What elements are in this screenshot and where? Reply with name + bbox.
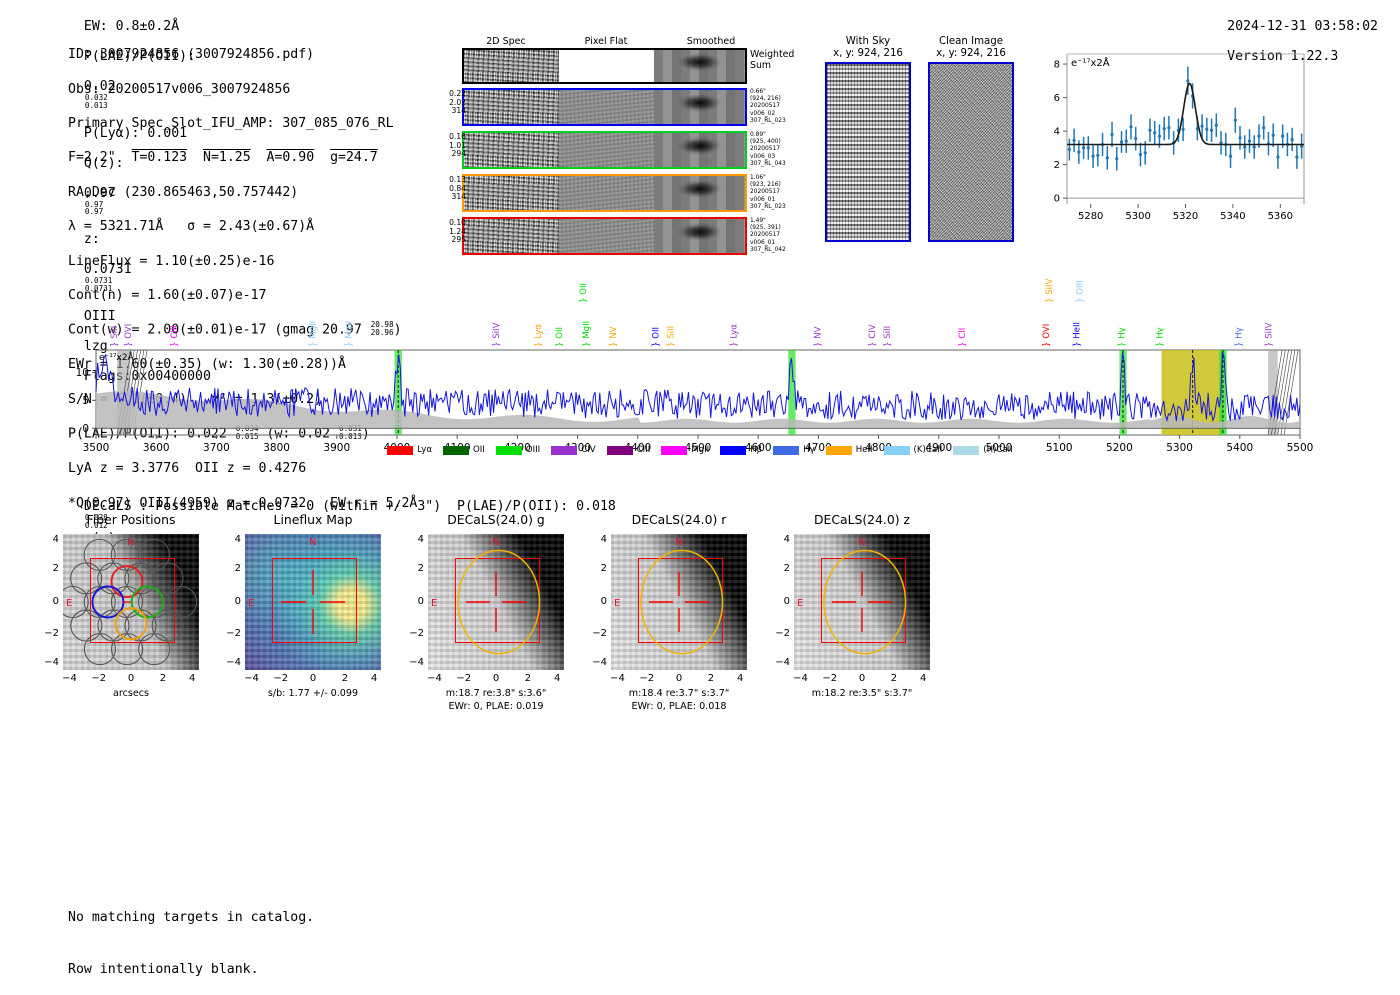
spectrum-line-label: } MgII [309,321,319,347]
info-seeing-a: A=0.90 [267,150,315,165]
cutout-ytick: −2 [43,628,59,639]
svg-text:5: 5 [82,395,89,407]
cutout-title: DECaLS(24.0) r [587,512,771,527]
weighted-sum-smoothed [654,50,745,82]
cutout-ytick: −4 [408,657,424,668]
svg-text:6: 6 [1054,93,1060,104]
legend-item: OIII [496,445,540,455]
info-radec: RA,Dec (230.865463,50.757442) [68,184,417,201]
info-lambda-sigma: λ = 5321.71Å σ = 2.43(±0.67)Å [68,218,417,235]
cutout-xtick: −4 [62,673,76,684]
cutout-xtick: −2 [456,673,470,684]
svg-text:5360: 5360 [1268,211,1293,222]
cutout-title: Lineflux Map [221,512,405,527]
spectrum-line-label: } MgII [345,321,355,347]
spec2d-col-title: Pixel Flat [576,36,636,47]
spectrum-line-label: } OII [555,327,565,347]
svg-text:5320: 5320 [1173,211,1198,222]
legend-label: CIII [637,445,651,455]
spectrum-line-label: } CIII [170,325,180,347]
spec2d-row-pixelflat [559,219,654,253]
cutout-xtick: −4 [244,673,258,684]
spec2d-row-right-labels: 1.06"(923, 216)20200517v006_01307_RL_023 [750,175,804,211]
legend-swatch [443,446,469,455]
spectrum-line-label: } HeII [1072,322,1082,347]
info-seeing-g: g=24.7 [330,150,378,165]
legend-swatch [551,446,577,455]
cutout-title: DECaLS(24.0) g [404,512,588,527]
cutout-xtick: −4 [610,673,624,684]
spec2d-row-left-labels: 0.161.01294 [436,133,466,159]
weighted-sum-strip [462,48,747,84]
line-fit-plot: 0246852805300532053405360e⁻¹⁷x2Å [1035,48,1310,228]
cutout-xtick: 2 [338,673,352,684]
cutout-title: DECaLS(24.0) z [770,512,954,527]
cutout-xtick: 4 [185,673,199,684]
cutout-ytick: 4 [774,534,790,545]
cutout-xtick: −2 [639,673,653,684]
cutout-footer-1: m:18.7 re:3.8" s:3.6" [402,688,590,700]
legend-swatch [720,446,746,455]
spectrum-line-label: } CIV [868,324,878,347]
spectrum-line-label: } OII [651,327,661,347]
cutout-ytick: −2 [225,628,241,639]
spectrum-line-label: } OVI [124,324,134,347]
cutout-xtick: −2 [91,673,105,684]
spec2d-row [462,88,747,126]
info-seeing-n: N=1.25 [203,150,251,165]
info-id: ID: 3007924856 (3007924856.pdf) [68,46,417,63]
cutout-title: Fiber Positions [39,512,223,527]
cutout-ytick: 2 [225,563,241,574]
legend-item: Hγ [773,445,815,455]
spec2d-row-pixelflat [559,133,654,167]
cutout-image: NE [428,534,564,670]
spectrum-line-label: } Hγ [1117,327,1127,347]
cutout-xtick: −2 [822,673,836,684]
spectrum-line-label: } Hγ [1235,327,1245,347]
cutout-ytick: 4 [43,534,59,545]
svg-text:5300: 5300 [1125,211,1150,222]
cutout-xtick: 4 [550,673,564,684]
cutout-ytick: −4 [225,657,241,668]
spectrum-line-label: } MgII [582,321,592,347]
spec2d-row-smoothed [654,219,745,253]
svg-text:5280: 5280 [1078,211,1103,222]
cutout-ytick: 0 [774,596,790,607]
svg-text:0: 0 [1054,194,1060,205]
spectrum-line-label: } NV [814,326,824,347]
svg-text:10: 10 [76,367,89,379]
legend-label: HeII [856,445,873,455]
cutout-xtick: 4 [733,673,747,684]
spec2d-row-right-labels: 0.89"(925, 400)20200517v006_03307_RL_043 [750,132,804,168]
spectrum-line-label: } Hγ [1155,327,1165,347]
cutout-image: NE [794,534,930,670]
spectrum-legend: LyαOIIOIIICIVCIIIMgIIHβHγHeII(K)CaII(H)C… [0,445,1400,455]
legend-label: OIII [526,445,540,455]
cutout-image: NE [245,534,381,670]
cutout-xtick: 2 [521,673,535,684]
thumbnail-texture [827,64,909,240]
bottom-note: No matching targets in catalog. Row inte… [68,875,314,995]
svg-text:e⁻¹⁷x2Å: e⁻¹⁷x2Å [1071,56,1110,69]
cutout-xtick: 0 [672,673,686,684]
thumbnail-image [825,62,911,242]
spectrum-line-label: } OIII [1075,280,1085,303]
cutout-ytick: −4 [591,657,607,668]
spectrum-line-label: } SiII [883,326,893,347]
cutout-ytick: −2 [774,628,790,639]
thumbnail-caption: With Skyx, y: 924, 216 [813,36,923,61]
spec2d-row-right-labels: 0.66"(924, 216)20200517v006_02307_RL_023 [750,89,804,125]
spectrum-line-label: } OVI [1042,324,1052,347]
legend-item: MgII [661,445,709,455]
spec2d-row-left-labels: 0.222.02314 [436,90,466,116]
bottom-note-line2: Row intentionally blank. [68,961,314,978]
cutout-ytick: 2 [408,563,424,574]
spectrum-line-label: } CII [958,328,968,347]
svg-text:8: 8 [1054,60,1060,71]
legend-item: CIII [607,445,651,455]
cutout-ytick: 4 [408,534,424,545]
weighted-sum-pixelflat [559,50,654,82]
cutout-image: NE [63,534,199,670]
thumbnail-texture [930,64,1012,240]
svg-text:4: 4 [1054,127,1060,138]
cutout-xtick: −2 [273,673,287,684]
spec2d-row-smoothed [654,90,745,124]
spec2d-col-title: 2D Spec [476,36,536,47]
weighted-sum-2dspec [464,50,559,82]
spectrum-line-label: } SiII [110,326,120,347]
info-seeing-row: F=2.2" T=0.123 N=1.25 A=0.90 g=24.7 [68,149,417,166]
cutout-ytick: 2 [591,563,607,574]
spectrum-line-label: } OII [579,283,589,303]
info-slot: Primary Spec_Slot_IFU_AMP: 307_085_076_R… [68,115,417,132]
cutout-footer-2: EWr: 0, PLAE: 0.018 [585,701,773,713]
cutout-xtick: 0 [855,673,869,684]
bottom-note-line1: No matching targets in catalog. [68,909,314,926]
legend-item: (K)CaII [884,445,943,455]
legend-label: (H)CaII [983,445,1013,455]
legend-item: CIV [551,445,595,455]
spec2d-row [462,131,747,169]
cutout-ytick: −4 [774,657,790,668]
legend-label: Lyα [417,445,432,455]
legend-item: (H)CaII [953,445,1013,455]
cutout-footer-1: m:18.2 re:3.5" s:3.7" [768,688,956,700]
thumbnail-caption: Clean Imagex, y: 924, 216 [916,36,1026,61]
spec2d-row [462,174,747,212]
legend-label: CIV [581,445,595,455]
cutout-xlabel: arcsecs [39,688,223,700]
svg-text:2: 2 [1054,160,1060,171]
legend-item: Lyα [387,445,432,455]
spec2d-row-2dspec [464,133,559,167]
legend-item: Hβ [720,445,762,455]
info-seeing-f: F=2.2" [68,150,116,165]
legend-item: OII [443,445,485,455]
full-spectrum-panel: 0510350036003700380039004000410042004300… [0,262,1400,477]
spec2d-row-2dspec [464,90,559,124]
cutout-xtick: −4 [793,673,807,684]
legend-label: OII [473,445,485,455]
cutout-image: NE [611,534,747,670]
cutout-ytick: −2 [408,628,424,639]
cutout-ytick: 2 [43,563,59,574]
thumbnail-image [928,62,1014,242]
spec2d-row-pixelflat [559,90,654,124]
cutout-ytick: 0 [591,596,607,607]
legend-label: (K)CaII [914,445,943,455]
spectrum-line-label: } SiIV [492,322,502,347]
legend-label: Hγ [803,445,815,455]
legend-swatch [387,446,413,455]
spec2d-row-smoothed [654,133,745,167]
legend-swatch [826,446,852,455]
spectrum-line-label: } NV [609,326,619,347]
legend-swatch [607,446,633,455]
legend-swatch [661,446,687,455]
legend-label: MgII [691,445,709,455]
spectrum-line-label: } SiIV [1045,278,1055,303]
cutout-xtick: 2 [704,673,718,684]
info-seeing-t: T=0.123 [132,150,188,165]
weighted-sum-label: WeightedSum [750,49,798,71]
cutout-xtick: −4 [427,673,441,684]
cutout-ytick: 2 [774,563,790,574]
legend-item: HeII [826,445,873,455]
spectrum-line-label: } Lyα [730,324,740,347]
cutout-footer-1: s/b: 1.77 +/- 0.099 [219,688,407,700]
svg-text:5340: 5340 [1220,211,1245,222]
cutout-ytick: −2 [591,628,607,639]
spec2d-row-left-labels: 0.130.84314 [436,176,466,202]
info-obs: Obs: 20200517v006_3007924856 [68,81,417,98]
cutout-xtick: 0 [306,673,320,684]
spec2d-row [462,217,747,255]
spec2d-row-right-labels: 1.49"(925, 391)20200517v006_01307_RL_042 [750,218,804,254]
cutout-xtick: 4 [367,673,381,684]
spectrum-line-label: } SiIV [1265,322,1275,347]
legend-label: Hβ [750,445,762,455]
cutout-footer-2: EWr: 0, PLAE: 0.019 [402,701,590,713]
cutout-ytick: 0 [43,596,59,607]
svg-text:e⁻¹⁷x2Å: e⁻¹⁷x2Å [99,351,135,363]
spec2d-row-smoothed [654,176,745,210]
cutout-ytick: −4 [43,657,59,668]
cutout-ytick: 0 [408,596,424,607]
spec2d-row-2dspec [464,219,559,253]
spec2d-row-left-labels: 0.101.24295 [436,219,466,245]
header-timestamp: 2024-12-31 03:58:02 [1227,19,1378,34]
spectrum-line-label: } SiII [666,326,676,347]
spec2d-row-2dspec [464,176,559,210]
legend-swatch [884,446,910,455]
legend-swatch [496,446,522,455]
svg-text:0: 0 [82,423,89,435]
spec2d-row-pixelflat [559,176,654,210]
cutout-xtick: 4 [916,673,930,684]
spectrum-line-label: } Lyα [534,324,544,347]
legend-swatch [773,446,799,455]
legend-swatch [953,446,979,455]
cutout-xtick: 2 [156,673,170,684]
cutout-footer-1: m:18.4 re:3.7" s:3.7" [585,688,773,700]
cutout-xtick: 0 [124,673,138,684]
cutout-ytick: 0 [225,596,241,607]
cutout-xtick: 0 [489,673,503,684]
cutout-xtick: 2 [887,673,901,684]
spec2d-col-title: Smoothed [681,36,741,47]
cutout-ytick: 4 [591,534,607,545]
cutout-ytick: 4 [225,534,241,545]
